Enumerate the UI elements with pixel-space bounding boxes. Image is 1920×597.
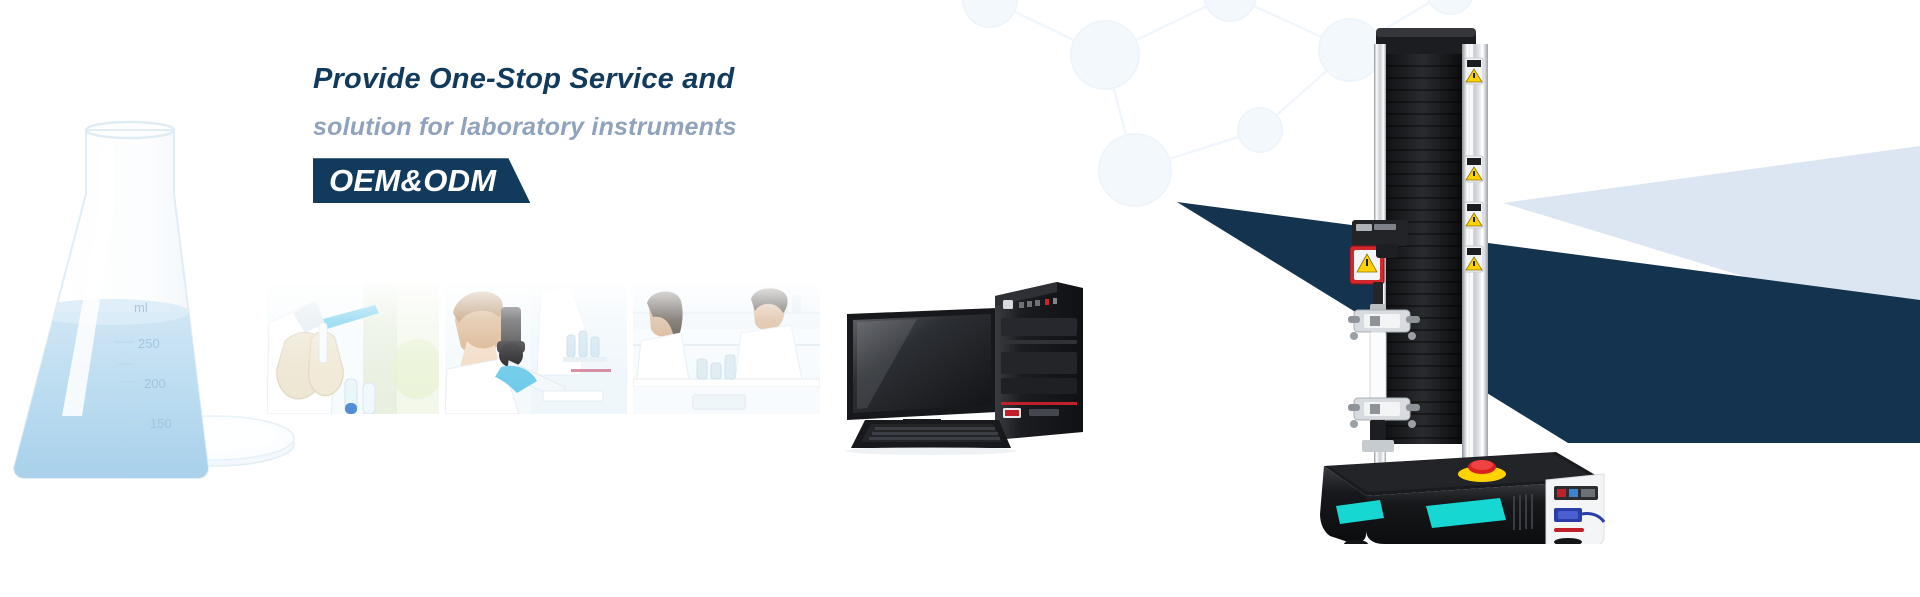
control-panel [1546, 474, 1604, 544]
photo-fade-overlay [445, 283, 627, 414]
flask-body: ml 250 200 150 [0, 122, 226, 486]
keyboard [845, 420, 1017, 455]
svg-text:150: 150 [150, 416, 172, 431]
promo-banner: Provide One-Stop Service and solution fo… [0, 0, 1920, 597]
desktop-computer [845, 280, 1085, 455]
test-specimen [1370, 332, 1386, 400]
svg-text:200: 200 [144, 376, 166, 391]
headline-line-2: solution for laboratory instruments [313, 108, 933, 147]
photo-fade-overlay [633, 283, 820, 414]
photo-microscope [445, 283, 627, 414]
photo-lab-bench [633, 283, 820, 414]
photo-pipetting [267, 283, 439, 414]
photo-strip [267, 283, 820, 414]
pc-tower [995, 282, 1083, 440]
oem-odm-badge-wrapper: OEM&ODM [313, 158, 530, 203]
headline-block: Provide One-Stop Service and solution fo… [313, 58, 933, 203]
oem-odm-badge-label: OEM&ODM [329, 163, 496, 199]
headline-line-1: Provide One-Stop Service and [313, 58, 933, 102]
photo-fade-overlay [267, 283, 439, 414]
universal-tensile-testing-machine [1318, 14, 1618, 544]
svg-text:250: 250 [138, 336, 160, 351]
svg-text:ml: ml [134, 300, 148, 315]
oem-odm-badge: OEM&ODM [313, 158, 530, 203]
